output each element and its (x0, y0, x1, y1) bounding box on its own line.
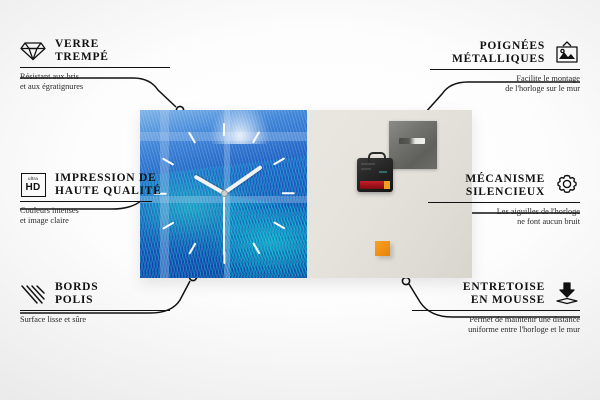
feature-title: ENTRETOISE EN MOUSSE (463, 281, 545, 307)
mechanism-detail (361, 168, 371, 170)
feature-divider (430, 69, 580, 70)
feature-divider (20, 67, 170, 68)
feature-mecanisme-silencieux: MÉCANISME SILENCIEUX Les aiguilles de l'… (428, 173, 580, 227)
feature-header: ENTRETOISE EN MOUSSE (412, 281, 580, 307)
feature-entretoise-en-mousse: ENTRETOISE EN MOUSSE Permet de maintenir… (412, 281, 580, 335)
feature-subtitle: Surface lisse et sûre (20, 315, 170, 325)
feature-impression-haute-qualite: ultra HD IMPRESSION DE HAUTE QUALITÉ Cou… (20, 172, 164, 226)
battery-positive-terminal (384, 181, 390, 189)
feature-subtitle: Les aiguilles de l'horloge ne font aucun… (428, 207, 580, 227)
down-arrow-spacer-icon (554, 281, 580, 307)
feature-subtitle: Facilite le montage de l'horloge sur le … (430, 74, 580, 94)
mechanism-detail (361, 163, 375, 165)
feature-verre-trempe: VERRE TREMPÉ Résistant aux bris et aux é… (20, 38, 170, 92)
feature-poignees-metalliques: POIGNÉES MÉTALLIQUES Facilite le montage… (430, 40, 580, 94)
battery (360, 181, 390, 189)
feature-title: VERRE TREMPÉ (55, 38, 109, 64)
feature-divider (412, 310, 580, 311)
feature-title: MÉCANISME SILENCIEUX (465, 173, 545, 199)
gear-icon (554, 173, 580, 199)
clock-second-hand (223, 193, 224, 255)
clock-hour-marker (281, 192, 294, 194)
glass-glare (210, 110, 270, 144)
hd-badge-big-label: HD (25, 183, 40, 193)
ultra-hd-badge-icon: ultra HD (20, 172, 46, 198)
feature-subtitle: Résistant aux bris et aux égratignures (20, 72, 170, 92)
feature-divider (20, 201, 152, 202)
feature-subtitle: Permet de maintenir une distance uniform… (412, 315, 580, 335)
clock-center-cap (221, 190, 228, 197)
feature-header: MÉCANISME SILENCIEUX (428, 173, 580, 199)
feature-title: BORDS POLIS (55, 281, 98, 307)
infographic-canvas: VERRE TREMPÉ Résistant aux bris et aux é… (0, 0, 600, 400)
diagonal-lines-icon (20, 281, 46, 307)
feature-bords-polis: BORDS POLIS Surface lisse et sûre (20, 281, 170, 325)
feature-subtitle: Couleurs intenses et image claire (20, 206, 164, 226)
marker-entretoise (402, 277, 409, 284)
mechanism-hanging-loop (368, 152, 386, 163)
feature-header: POIGNÉES MÉTALLIQUES (430, 40, 580, 66)
product-photo (140, 110, 472, 278)
hanger-keyhole-slot (399, 138, 425, 144)
feature-header: BORDS POLIS (20, 281, 170, 307)
feature-header: ultra HD IMPRESSION DE HAUTE QUALITÉ (20, 172, 164, 198)
feature-title: POIGNÉES MÉTALLIQUES (452, 40, 545, 66)
mechanism-detail (379, 171, 387, 173)
feature-divider (20, 310, 170, 311)
feature-title: IMPRESSION DE HAUTE QUALITÉ (55, 172, 162, 198)
diamond-icon (20, 38, 46, 64)
feature-header: VERRE TREMPÉ (20, 38, 170, 64)
foam-spacer (375, 241, 390, 256)
clock-mechanism-box (357, 158, 393, 192)
picture-frame-hanger-icon (554, 40, 580, 66)
metal-hanger-plate (389, 121, 437, 169)
clock-front-panel (140, 110, 309, 278)
pattern-moire-layer-3 (225, 194, 309, 278)
feature-divider (428, 202, 580, 203)
